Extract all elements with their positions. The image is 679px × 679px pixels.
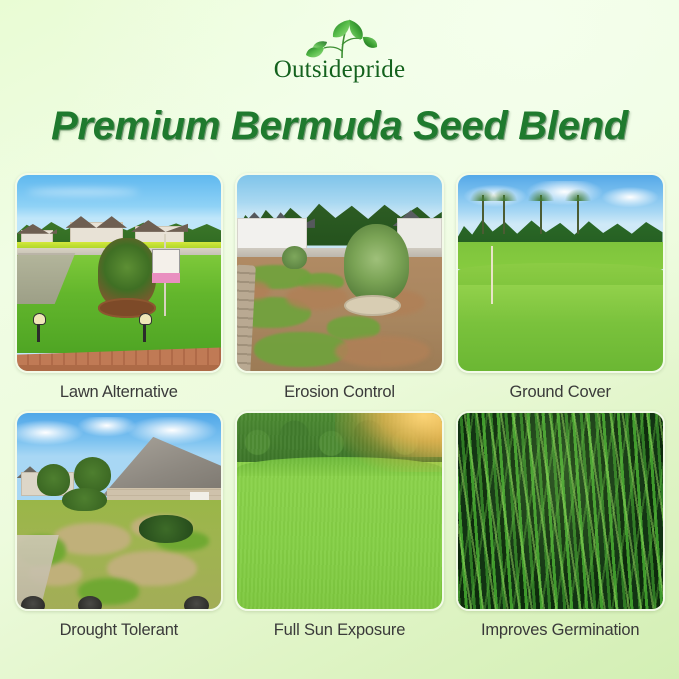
feature-image-card — [15, 173, 224, 373]
feature-caption: Improves Germination — [481, 617, 639, 643]
feature-item-ground-cover: Ground Cover — [456, 173, 665, 405]
feature-image-card — [456, 411, 665, 611]
brand-name: Outsidepride — [274, 57, 406, 82]
dry-patchy-lawn-house-photo — [17, 413, 222, 609]
grass-blades-closeup-photo — [458, 413, 663, 609]
patchy-bare-soil-yard-photo — [237, 175, 442, 371]
feature-caption: Drought Tolerant — [60, 617, 179, 643]
brand-logo: Outsidepride — [0, 0, 679, 82]
feature-image-card — [235, 411, 444, 611]
golf-course-green-photo — [458, 175, 663, 371]
page-title: Premium Bermuda Seed Blend — [0, 104, 679, 149]
feature-image-card — [456, 173, 665, 373]
feature-item-lawn-alternative: Lawn Alternative — [15, 173, 224, 405]
suburban-front-lawn-photo — [17, 175, 222, 371]
sprout-leaf-icon — [297, 9, 383, 61]
feature-item-erosion-control: Erosion Control — [235, 173, 444, 405]
feature-image-card — [235, 173, 444, 373]
feature-image-card — [15, 411, 224, 611]
feature-grid: Lawn Alternative — [15, 173, 665, 644]
feature-caption: Erosion Control — [284, 379, 395, 405]
infographic-page: Outsidepride Premium Bermuda Seed Blend — [0, 0, 679, 679]
feature-item-full-sun-exposure: Full Sun Exposure — [235, 411, 444, 643]
feature-caption: Lawn Alternative — [60, 379, 178, 405]
sunlit-green-lawn-photo — [237, 413, 442, 609]
feature-caption: Ground Cover — [510, 379, 611, 405]
feature-item-improves-germination: Improves Germination — [456, 411, 665, 643]
feature-caption: Full Sun Exposure — [274, 617, 405, 643]
feature-item-drought-tolerant: Drought Tolerant — [15, 411, 224, 643]
